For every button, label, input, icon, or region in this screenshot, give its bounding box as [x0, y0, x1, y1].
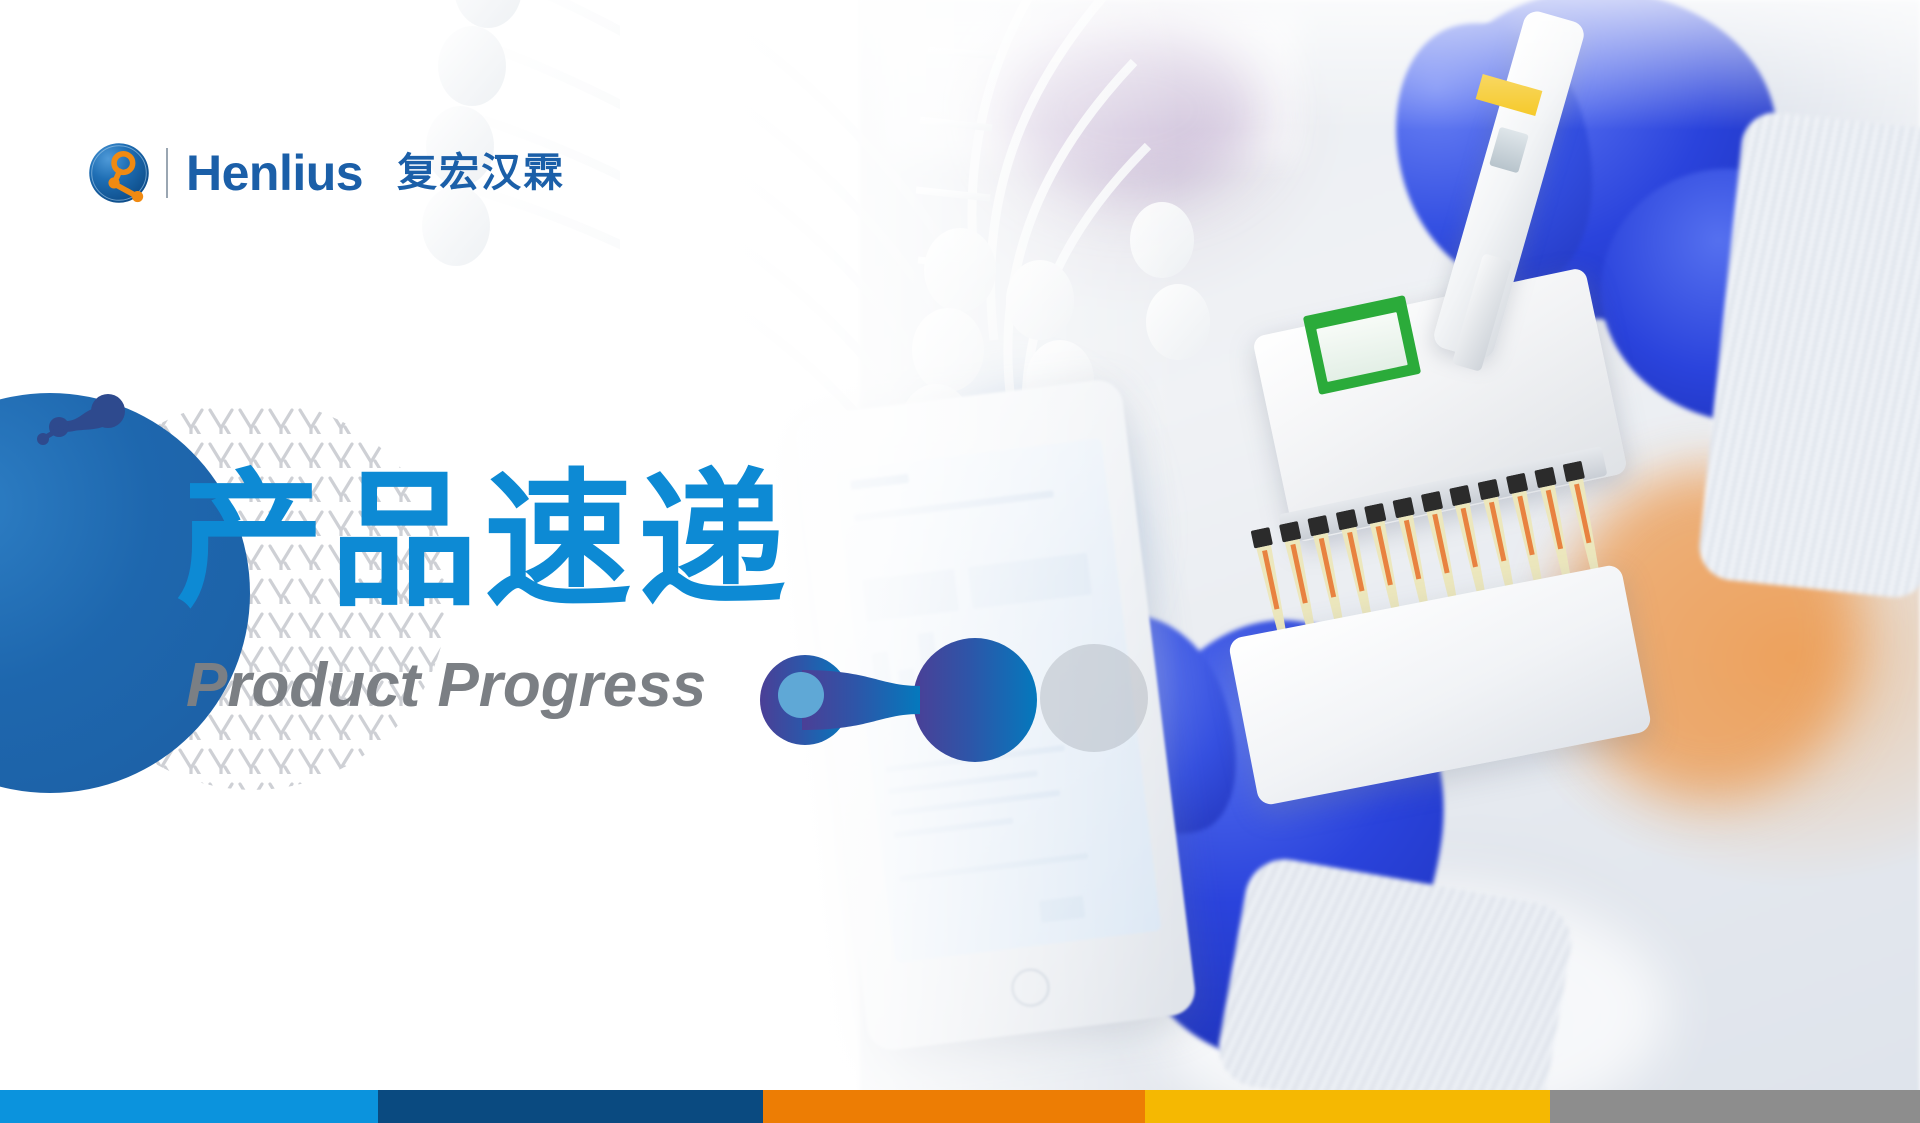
henlius-logo[interactable]: Henlius 复宏汉霖 — [88, 142, 565, 204]
logo-english-name: Henlius — [186, 148, 363, 198]
logo-divider — [166, 148, 168, 198]
page-title-chinese: 产品速递 — [176, 467, 792, 615]
decor-small-blue-dot — [778, 672, 824, 718]
segment-light-blue — [0, 1090, 378, 1123]
segment-gold — [1145, 1090, 1550, 1123]
bottom-color-bar — [0, 1090, 1920, 1123]
page-subtitle-english: Product Progress — [186, 655, 706, 717]
segment-dark-blue — [378, 1090, 763, 1123]
segment-gray — [1550, 1090, 1920, 1123]
henlius-molecule-mark-icon — [88, 142, 150, 204]
logo-chinese-name: 复宏汉霖 — [397, 153, 565, 193]
slide-canvas: Henlius 复宏汉霖 产品速递 Product Progress — [0, 0, 1920, 1123]
decor-gray-circle — [1040, 644, 1148, 752]
mini-molecule-icon — [22, 385, 152, 455]
segment-orange — [763, 1090, 1145, 1123]
